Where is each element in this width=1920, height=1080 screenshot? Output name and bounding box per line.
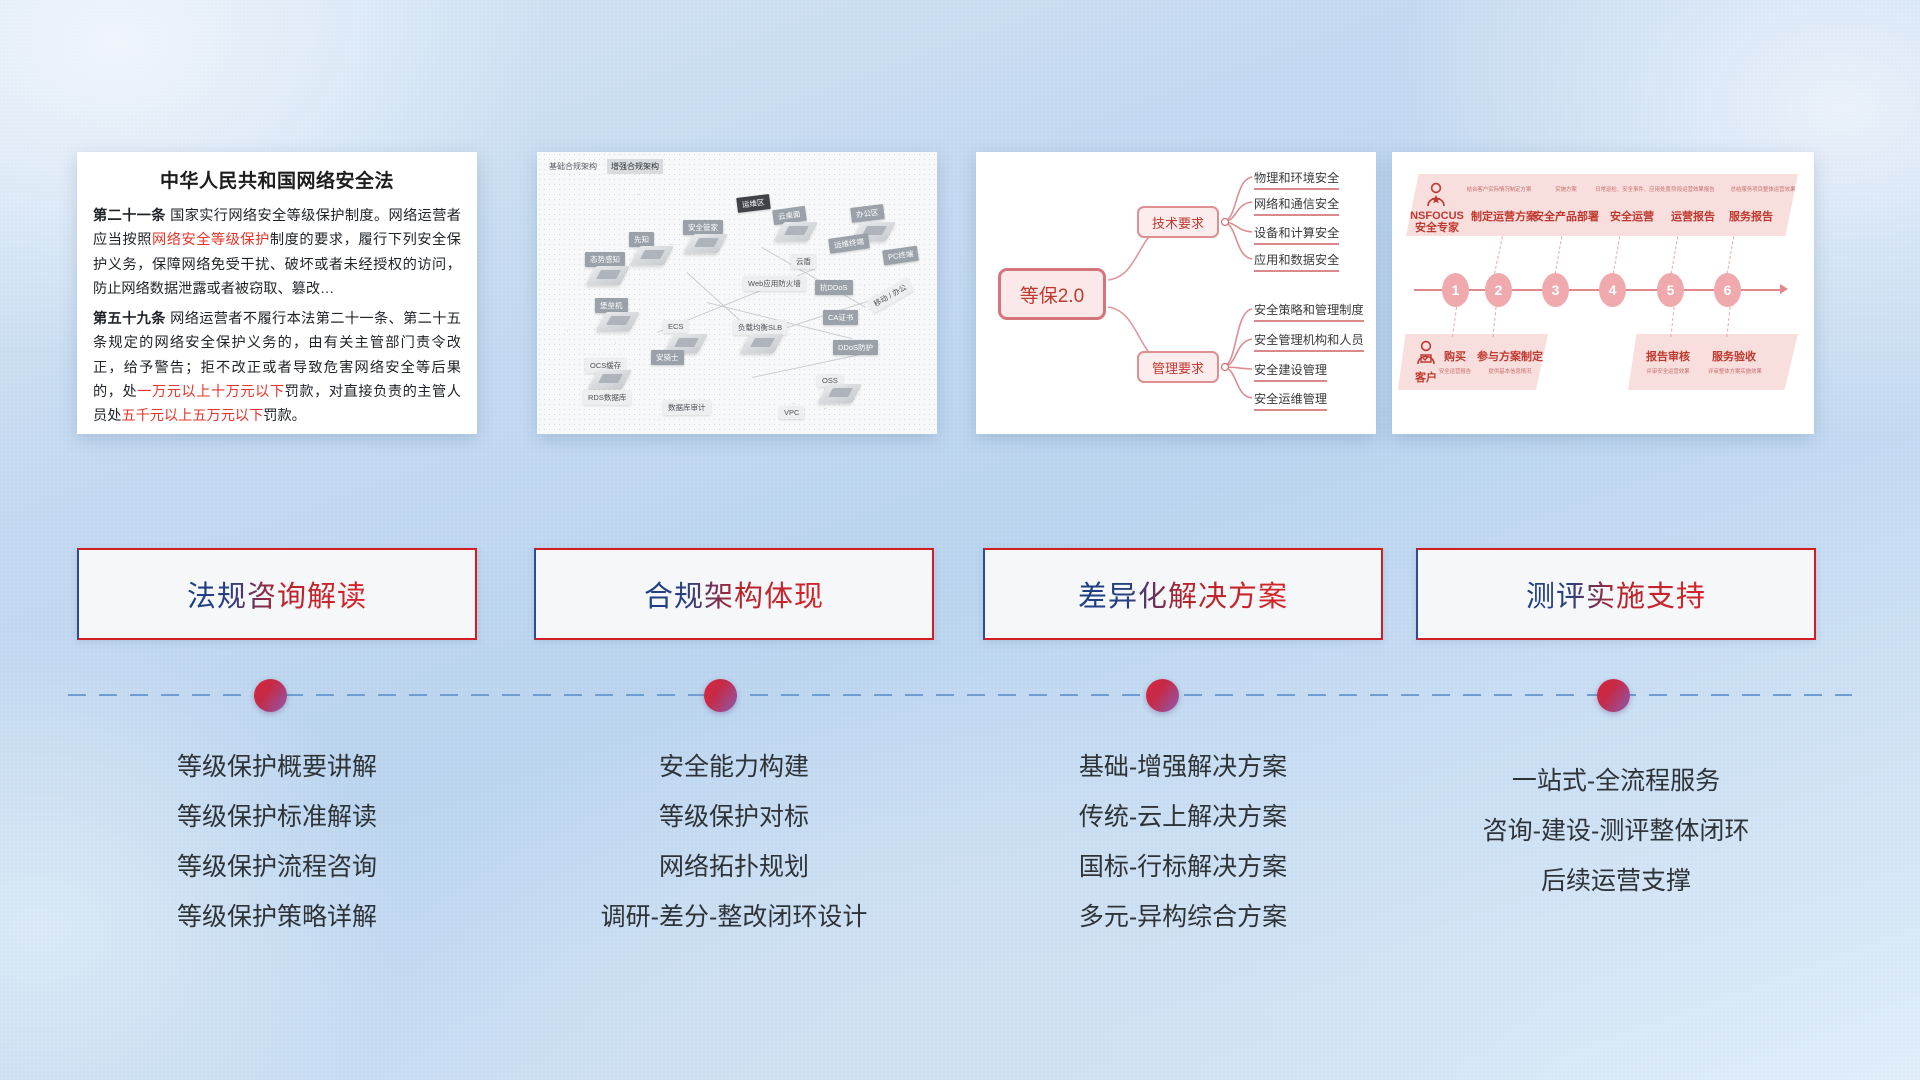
list-item: 一站式-全流程服务 [1416, 756, 1816, 806]
article-59-part3: 罚款。 [263, 408, 306, 424]
mindmap-leaf-device-compute: 设备和计算安全 [1254, 223, 1339, 245]
node-anqishi: 安骑士 [651, 350, 684, 365]
list-item: 等级保护流程咨询 [77, 842, 477, 892]
node-office-zone: 办公区 [850, 204, 884, 223]
connector-b2 [1492, 307, 1496, 337]
list-item: 后续运营支撑 [1416, 856, 1816, 906]
node-ecs: ECS [663, 320, 688, 333]
node-security-butler: 安全管家 [683, 220, 723, 235]
headline-label-1: 法规咨询解读 [187, 573, 367, 615]
bottom-label-4: 服务验收 [1704, 348, 1764, 364]
list-item: 等级保护概要讲解 [77, 742, 477, 792]
service-timeline-diagram: NSFOCUS安全专家 客户 结合客户实际情况制定方案 制定运营方案 实施方案 … [1392, 152, 1814, 434]
server-icon-awareness [591, 266, 625, 285]
mindmap-leaf-org-personnel: 安全管理机构和人员 [1254, 330, 1364, 352]
mindmap-leaf-ops-mgmt: 安全运维管理 [1254, 389, 1327, 411]
list-item: 咨询-建设-测评整体闭环 [1416, 806, 1816, 856]
server-icon-xianzhi [635, 246, 669, 265]
server-icon-desktop [779, 222, 813, 241]
server-icon-bastion [601, 312, 635, 331]
node-rds-database: RDS数据库 [583, 390, 631, 405]
list-item: 调研-差分-整改闭环设计 [534, 892, 934, 942]
timeline-dot-3[interactable] [1146, 679, 1179, 712]
bottom-sub-2: 提供基本信息情况 [1472, 367, 1548, 375]
node-xianzhi: 先知 [629, 232, 654, 247]
connector-6 [1727, 236, 1735, 274]
mindmap-diagram: 等保2.0 技术要求 管理要求 物理和环境安全 网络和通信安全 设备和计算安全 … [976, 152, 1376, 434]
detail-list-2: 安全能力构建 等级保护对标 网络拓扑规划 调研-差分-整改闭环设计 [534, 742, 934, 942]
server-icon-ocs [593, 370, 627, 389]
headline-box-assessment-support[interactable]: 测评实施支持 [1416, 548, 1816, 640]
timeline-node-2[interactable]: 2 [1485, 273, 1512, 307]
server-icon-slb [745, 334, 779, 353]
detail-list-1: 等级保护概要讲解 等级保护标准解读 等级保护流程咨询 等级保护策略详解 [77, 742, 477, 942]
detail-list-3: 基础-增强解决方案 传统-云上解决方案 国标-行标解决方案 多元-异构综合方案 [983, 742, 1383, 942]
card-compliance-architecture[interactable]: 基础合规架构 增强合规架构 运维区 安全管家 先知 态势感知 堡垒机 ECS [537, 152, 937, 434]
connector-2 [1494, 236, 1503, 273]
server-icon-butler [689, 234, 723, 253]
screenshot-cards-row: 中华人民共和国网络安全法 第二十一条 国家实行网络安全等级保护制度。网络运营者应… [0, 152, 1920, 442]
card-cybersecurity-law[interactable]: 中华人民共和国网络安全法 第二十一条 国家实行网络安全等级保护制度。网络运营者应… [77, 152, 477, 434]
list-item: 等级保护策略详解 [77, 892, 477, 942]
connector-b5 [1670, 307, 1674, 337]
tab-enhanced-architecture[interactable]: 增强合规架构 [607, 159, 663, 174]
main-timeline-axis [68, 694, 1852, 696]
node-anti-ddos: 抗DDoS [815, 280, 853, 295]
connector-b6 [1726, 307, 1730, 337]
article-21-highlight: 网络安全等级保护 [152, 232, 270, 248]
law-text-body: 中华人民共和国网络安全法 第二十一条 国家实行网络安全等级保护制度。网络运营者应… [77, 152, 477, 434]
timeline-node-6[interactable]: 6 [1714, 273, 1741, 307]
headline-box-compliance-architecture[interactable]: 合规架构体现 [534, 548, 934, 640]
law-article-59: 第五十九条 网络运营者不履行本法第二十一条、第二十五条规定的网络安全保护义务的，… [93, 307, 461, 429]
connector-3 [1555, 236, 1563, 274]
mindmap-leaf-app-data: 应用和数据安全 [1254, 250, 1339, 272]
mindmap-leaf-physical-env: 物理和环境安全 [1254, 168, 1339, 190]
server-icon-oss [823, 384, 857, 403]
list-item: 传统-云上解决方案 [983, 792, 1383, 842]
list-item: 基础-增强解决方案 [983, 742, 1383, 792]
tab-basic-architecture[interactable]: 基础合规架构 [545, 159, 601, 174]
node-ops-zone: 运维区 [736, 194, 770, 213]
timeline-dot-4[interactable] [1597, 679, 1630, 712]
bottom-sub-3: 评审安全运营效果 [1635, 367, 1701, 375]
connector-5 [1671, 236, 1679, 274]
timeline-node-1[interactable]: 1 [1442, 273, 1469, 307]
bottom-sub-4: 评审整体方案实施效果 [1696, 367, 1774, 375]
timeline-arrow-icon [1780, 284, 1788, 294]
card-service-timeline[interactable]: NSFOCUS安全专家 客户 结合客户实际情况制定方案 制定运营方案 实施方案 … [1392, 152, 1814, 434]
node-ca-certificate: CA证书 [823, 310, 858, 325]
mindmap-leaf-construction-mgmt: 安全建设管理 [1254, 360, 1327, 382]
list-item: 国标-行标解决方案 [983, 842, 1383, 892]
node-yundun: 云盾 [791, 254, 816, 269]
node-database-audit: 数据库审计 [663, 400, 711, 415]
node-vpc: VPC [779, 406, 804, 419]
headline-label-4: 测评实施支持 [1526, 573, 1706, 615]
list-item: 等级保护标准解读 [77, 792, 477, 842]
card-dengbao-mindmap[interactable]: 等保2.0 技术要求 管理要求 物理和环境安全 网络和通信安全 设备和计算安全 … [976, 152, 1376, 434]
timeline-node-3[interactable]: 3 [1542, 273, 1569, 307]
node-web-waf: Web应用防火墙 [743, 276, 806, 291]
architecture-tabs[interactable]: 基础合规架构 增强合规架构 [545, 159, 663, 174]
bottom-label-1: 购买 [1435, 348, 1475, 364]
top-sub-5: 总结服务项目整体运营效果 [1708, 185, 1814, 193]
node-slb: 负载均衡SLB [733, 320, 787, 335]
mindmap-leaf-network-comm: 网络和通信安全 [1254, 194, 1339, 216]
mindmap-branch-management[interactable]: 管理要求 [1137, 351, 1219, 383]
list-item: 多元-异构综合方案 [983, 892, 1383, 942]
timeline-dot-2[interactable] [704, 679, 737, 712]
law-article-21: 第二十一条 国家实行网络安全等级保护制度。网络运营者应当按照网络安全等级保护制度… [93, 204, 461, 302]
bottom-label-3: 报告审核 [1638, 348, 1698, 364]
headline-box-regulation-consulting[interactable]: 法规咨询解读 [77, 548, 477, 640]
node-ddos-protect: DDoS防护 [833, 340, 878, 355]
headline-label-2: 合规架构体现 [644, 573, 824, 615]
list-item: 安全能力构建 [534, 742, 934, 792]
article-59-highlight-1: 一万元以上十万元以下 [137, 384, 284, 400]
list-item: 网络拓扑规划 [534, 842, 934, 892]
article-59-label: 第五十九条 [93, 311, 166, 327]
timeline-dot-1[interactable] [254, 679, 287, 712]
timeline-node-5[interactable]: 5 [1657, 273, 1684, 307]
timeline-node-4[interactable]: 4 [1599, 273, 1626, 307]
headline-label-3: 差异化解决方案 [1078, 573, 1288, 615]
headline-row: 法规咨询解读 合规架构体现 差异化解决方案 测评实施支持 [0, 548, 1920, 642]
article-59-highlight-2: 五千元以上五万元以下 [121, 408, 263, 424]
connector-b1 [1452, 307, 1457, 337]
mindmap-branch-technical[interactable]: 技术要求 [1137, 206, 1219, 238]
architecture-diagram: 基础合规架构 增强合规架构 运维区 安全管家 先知 态势感知 堡垒机 ECS [537, 152, 937, 434]
law-title: 中华人民共和国网络安全法 [93, 166, 461, 193]
bottom-label-2: 参与方案制定 [1470, 348, 1550, 364]
list-item: 等级保护对标 [534, 792, 934, 842]
mindmap-root-node[interactable]: 等保2.0 [998, 268, 1106, 320]
expert-role-label: NSFOCUS安全专家 [1406, 210, 1468, 234]
article-21-label: 第二十一条 [93, 208, 166, 224]
node-situation-awareness: 态势感知 [585, 252, 625, 267]
detail-list-4: 一站式-全流程服务 咨询-建设-测评整体闭环 后续运营支撑 [1416, 756, 1816, 906]
headline-box-differentiated-solution[interactable]: 差异化解决方案 [983, 548, 1383, 640]
mindmap-leaf-policy-system: 安全策略和管理制度 [1254, 300, 1364, 322]
top-label-5: 服务报告 [1711, 208, 1791, 224]
node-bastion-host: 堡垒机 [595, 298, 628, 313]
connector-4 [1613, 236, 1621, 274]
